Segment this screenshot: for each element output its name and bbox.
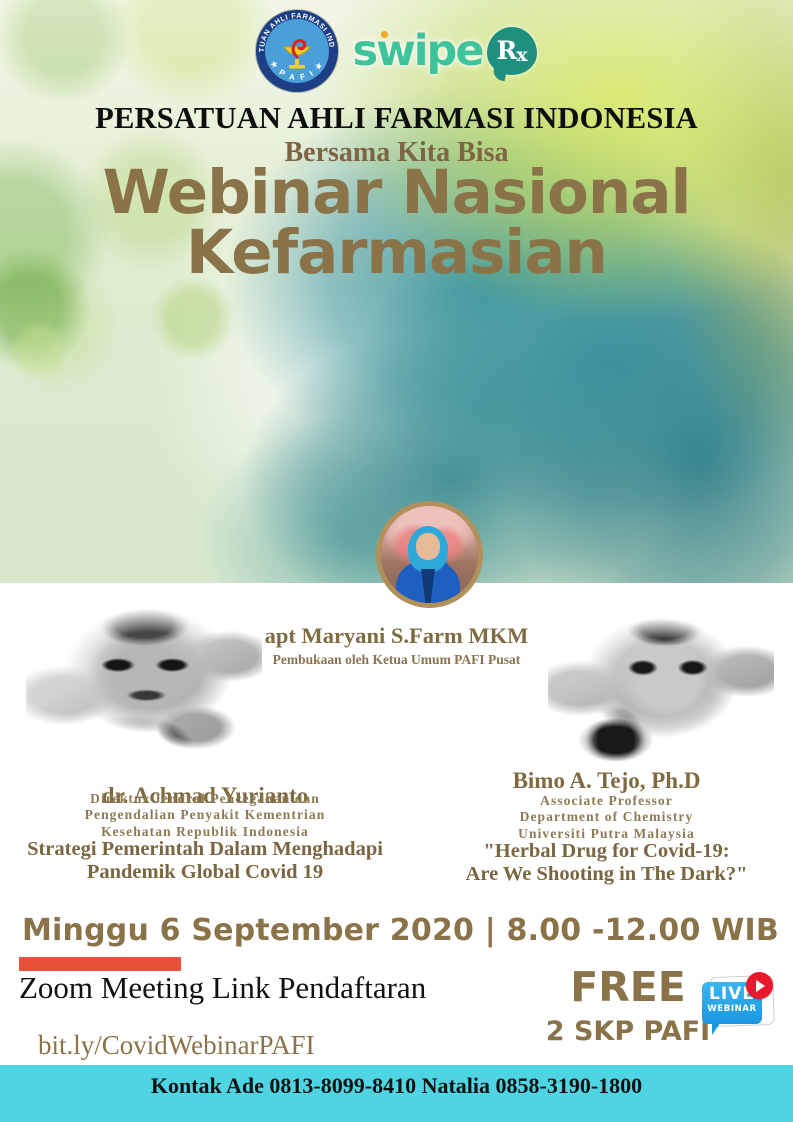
- play-button-icon: [746, 972, 773, 999]
- webinar-poster: PERSATUAN AHLI FARMASI INDONESIA ★ P A F…: [0, 0, 793, 1122]
- speaker-photo-left: [26, 585, 262, 763]
- center-speaker-face: [416, 533, 440, 560]
- contact-text: Kontak Ade 0813-8099-8410 Natalia 0858-3…: [0, 1073, 793, 1099]
- virus-blob-icon: [150, 275, 236, 361]
- logo-row: PERSATUAN AHLI FARMASI INDONESIA ★ P A F…: [0, 8, 793, 94]
- live-badge-line-2: WEBINAR: [702, 1005, 762, 1014]
- red-accent-bar: [19, 957, 181, 971]
- speaker-photo-right: [548, 592, 774, 764]
- speaker-photo-center: [376, 501, 483, 608]
- virus-blob-icon: [10, 320, 70, 380]
- platform-line: Zoom Meeting Link Pendaftaran: [19, 970, 426, 1006]
- credits-label: 2 SKP PAFI: [528, 1016, 728, 1047]
- page-title: Webinar Nasional Kefarmasian: [0, 163, 793, 283]
- right-speaker-name: Bimo A. Tejo, Ph.D: [420, 768, 793, 794]
- center-speaker-name: apt Maryani S.Farm MKM: [0, 623, 793, 649]
- speaker-photo-right-image: [548, 592, 774, 764]
- swiperx-logo: swipe Rx: [352, 27, 536, 75]
- event-datetime: Minggu 6 September 2020 | 8.00 -12.00 WI…: [22, 913, 779, 948]
- organization-name: PERSATUAN AHLI FARMASI INDONESIA: [0, 101, 793, 136]
- left-speaker-affiliation: Direktur Jendral Pencegahan dan Pengenda…: [0, 791, 410, 840]
- left-speaker-topic: Strategi Pemerintah Dalam Menghadapi Pan…: [0, 838, 410, 883]
- live-badge-tail: [712, 1022, 721, 1035]
- right-speaker-affiliation: Associate Professor Department of Chemis…: [420, 793, 793, 842]
- swiperx-wordmark: swipe: [352, 30, 482, 73]
- right-speaker-topic: "Herbal Drug for Covid-19: Are We Shooti…: [420, 840, 793, 885]
- price-label: FREE: [548, 967, 708, 1008]
- speaker-photo-center-image: [381, 506, 478, 603]
- rx-label: Rx: [496, 38, 526, 65]
- speaker-photo-left-image: [26, 585, 262, 763]
- rx-speech-bubble-icon: Rx: [487, 27, 537, 75]
- live-webinar-badge-icon: LIVE WEBINAR: [700, 972, 778, 1044]
- title-line-2: Kefarmasian: [0, 223, 793, 283]
- bowl-of-hygieia-icon: [277, 33, 317, 73]
- registration-link[interactable]: bit.ly/CovidWebinarPAFI: [38, 1030, 315, 1061]
- center-speaker-role: Pembukaan oleh Ketua Umum PAFI Pusat: [0, 652, 793, 668]
- pafi-logo-icon: PERSATUAN AHLI FARMASI INDONESIA ★ P A F…: [256, 10, 338, 92]
